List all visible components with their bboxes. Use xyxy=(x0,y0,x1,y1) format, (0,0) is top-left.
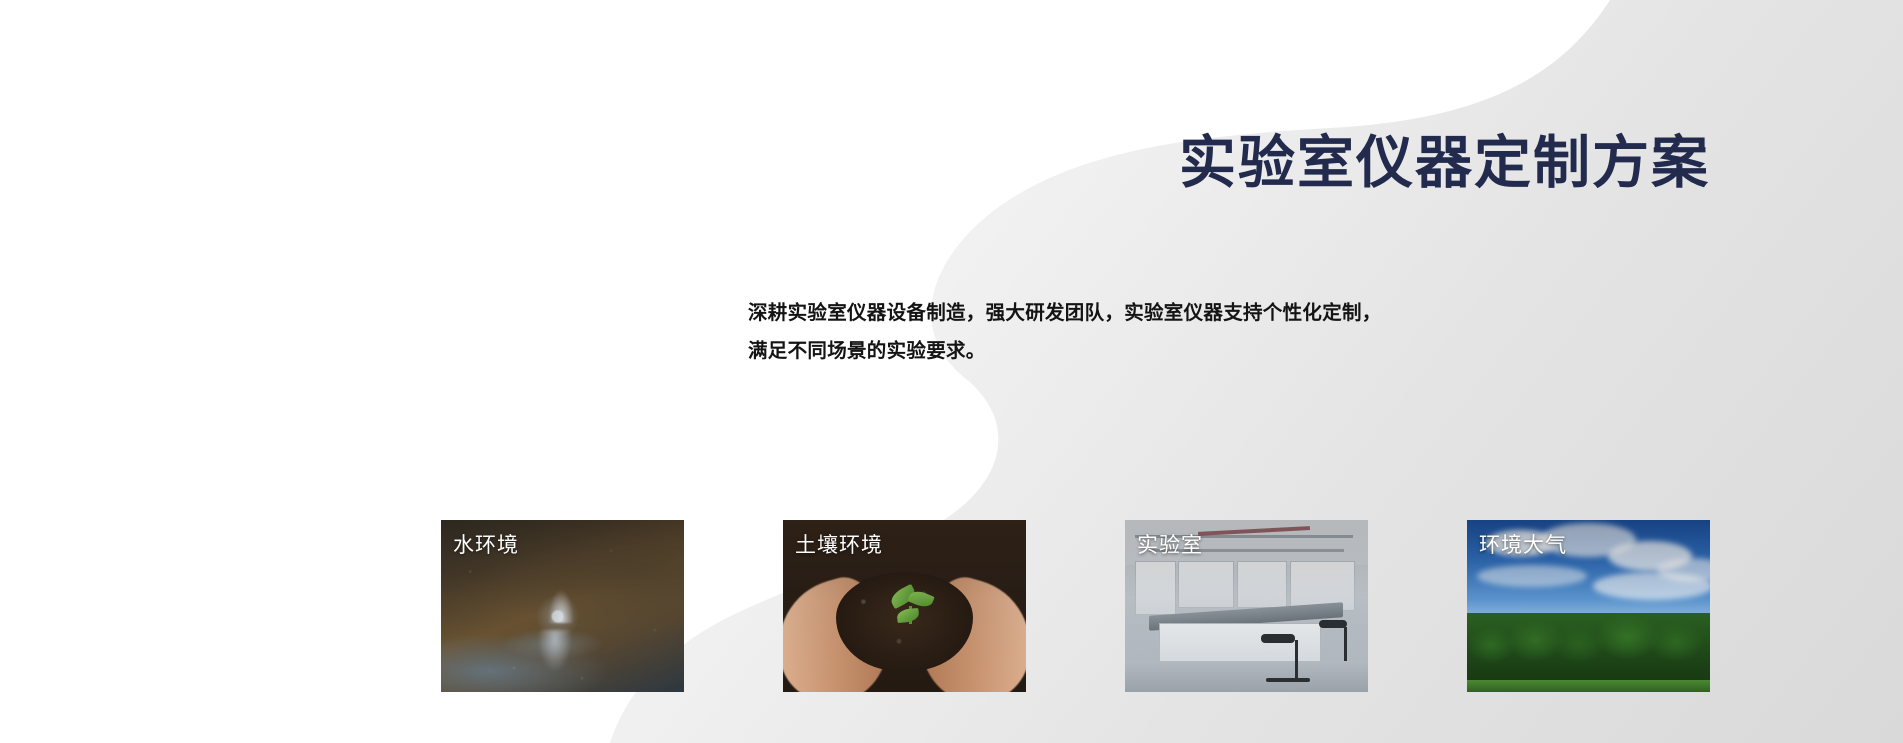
hero-subtitle-line-1: 深耕实验室仪器设备制造，强大研发团队，实验室仪器支持个性化定制， xyxy=(748,294,1713,332)
category-card-label: 实验室 xyxy=(1137,529,1203,559)
category-card-label: 水环境 xyxy=(453,529,519,559)
hero-banner: 实验室仪器定制方案 深耕实验室仪器设备制造，强大研发团队，实验室仪器支持个性化定… xyxy=(0,0,1903,743)
category-card-soil[interactable]: 土壤环境 xyxy=(783,520,1026,692)
category-card-water[interactable]: 水环境 xyxy=(441,520,684,692)
category-card-label: 环境大气 xyxy=(1479,529,1567,559)
hero-subtitle: 深耕实验室仪器设备制造，强大研发团队，实验室仪器支持个性化定制， 满足不同场景的… xyxy=(748,294,1713,370)
hero-subtitle-line-2: 满足不同场景的实验要求。 xyxy=(748,332,1713,370)
category-card-label: 土壤环境 xyxy=(795,529,883,559)
category-card-laboratory[interactable]: 实验室 xyxy=(1125,520,1368,692)
category-card-list: 水环境 土壤环境 xyxy=(441,520,1710,692)
page-title: 实验室仪器定制方案 xyxy=(700,132,1710,196)
category-card-atmosphere[interactable]: 环境大气 xyxy=(1467,520,1710,692)
